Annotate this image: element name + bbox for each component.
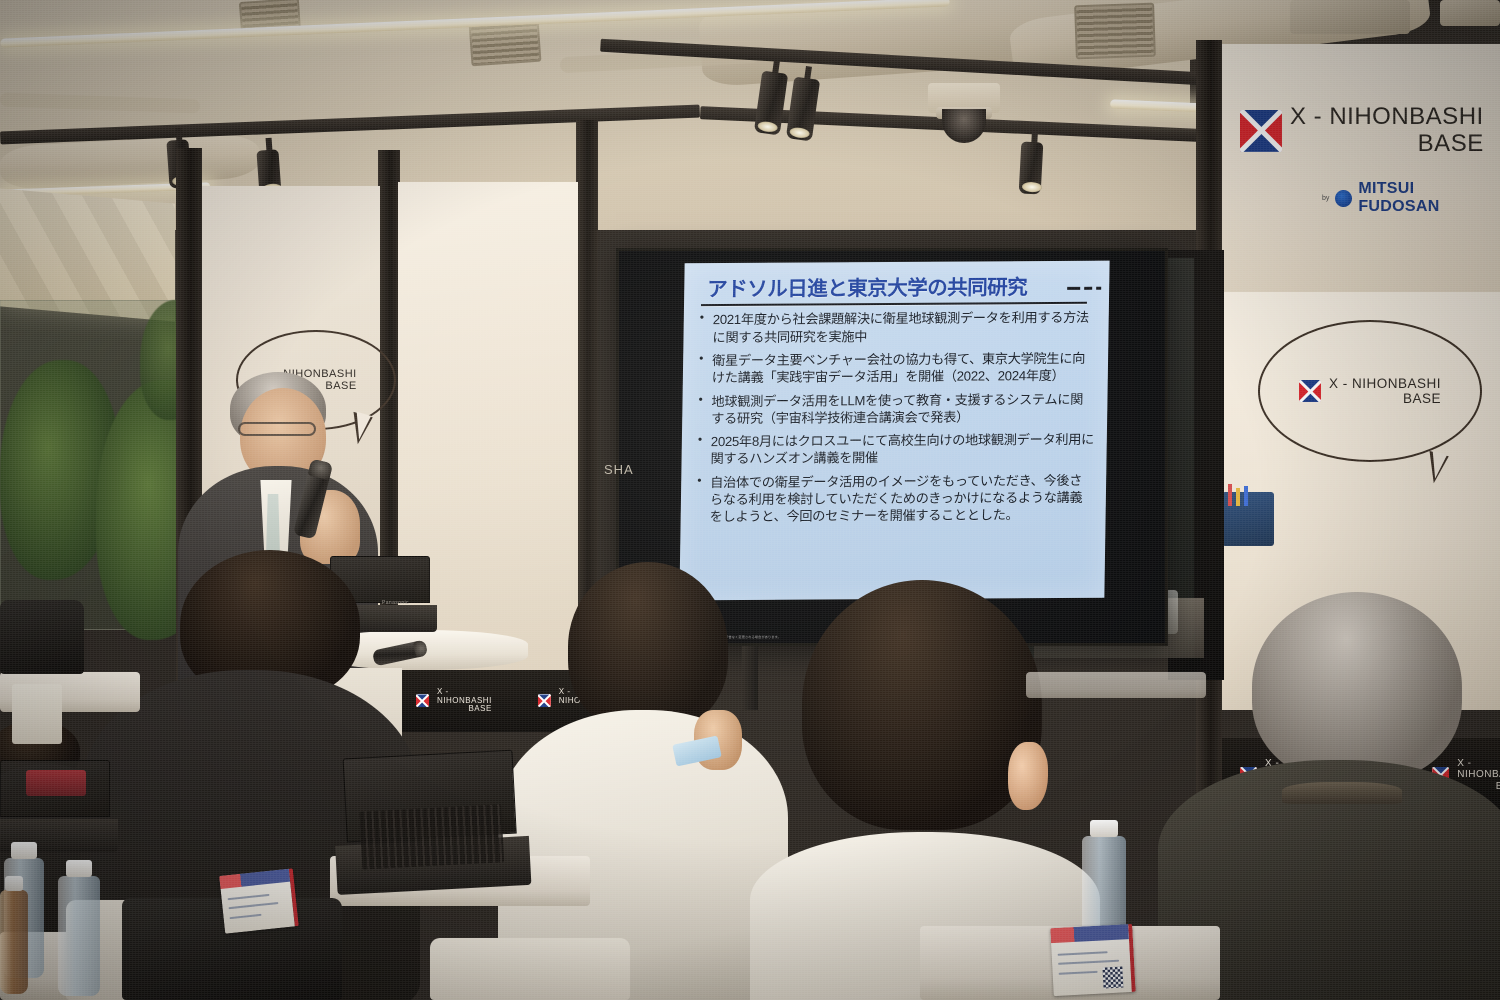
- attendee-ear: [1008, 742, 1048, 810]
- name-badge-right: [1050, 924, 1135, 996]
- ceiling-speaker: [1290, 0, 1410, 34]
- title-dash-decoration: [1067, 287, 1101, 290]
- attendee-hair: [1252, 592, 1462, 782]
- sponsor-lockup: by MITSUI FUDOSAN: [1322, 180, 1500, 216]
- mitsui-fudosan-icon: [1335, 190, 1352, 207]
- x-logo-icon: [1299, 380, 1321, 402]
- speech-bubble-right: X - NIHONBASHI BASE: [1258, 320, 1482, 462]
- pen-blue: [1244, 486, 1248, 506]
- x-nihonbashi-logo-top-right: X - NIHONBASHI BASE: [1240, 104, 1484, 158]
- bag: [0, 600, 84, 674]
- attendee-laptop: [343, 750, 520, 895]
- seminar-room-photo: NIHONBASHI BASE X - NIHONBASHI BASE by M…: [0, 0, 1500, 1000]
- logo-line-1: X - NIHONBASHI: [437, 688, 492, 706]
- air-vent-3: [1074, 3, 1156, 60]
- title-underline: [701, 302, 1087, 307]
- logo-line-2: BASE: [1329, 391, 1441, 406]
- ceiling-speaker-2: [1440, 0, 1500, 26]
- paper-stack: [12, 684, 62, 744]
- slide-bullet-list: 2021年度から社会課題解決に衛星地球観測データを利用する方法に関する共同研究を…: [696, 309, 1097, 526]
- x-nihonbashi-logo-bubble: X - NIHONBASHI BASE: [1299, 376, 1441, 406]
- slide-bullet: 2025年8月にはクロスユーにて高校生向けの地球観測データ利用に関するハンズオン…: [696, 431, 1094, 468]
- pen-red: [1228, 484, 1232, 506]
- logo-line-2: BASE: [1290, 131, 1484, 158]
- attendee-collar: [1282, 782, 1402, 804]
- tea-bottle: [0, 890, 28, 994]
- logo-line-1: X - NIHONBASHI: [1329, 376, 1441, 391]
- attendee-hair: [802, 580, 1042, 830]
- x-logo-icon: [1240, 110, 1282, 152]
- water-bottle-2: [58, 876, 100, 996]
- slide-bullet: 自治体での衛星データ活用のイメージをもっていただき、今後さらなる利用を検討してい…: [696, 471, 1095, 525]
- sponsor-prefix: by: [1322, 195, 1329, 202]
- attendee-right: [1178, 592, 1500, 1000]
- table-rear-right: [1026, 672, 1206, 698]
- x-logo-icon: [416, 694, 429, 707]
- backdrop-panel-top-right: [1222, 44, 1500, 294]
- slide-title: アドソル日進と東京大学の共同研究: [707, 270, 1097, 302]
- pen-yellow: [1236, 488, 1240, 506]
- eyeglasses-icon: [238, 422, 316, 436]
- slide: アドソル日進と東京大学の共同研究 2021年度から社会課題解決に衛星地球観測デー…: [679, 261, 1109, 601]
- display-brand-partial: SHA: [604, 462, 634, 477]
- sponsor-name: MITSUI FUDOSAN: [1358, 180, 1500, 216]
- red-case: [26, 770, 86, 796]
- slide-bullet: 衛星データ主要ベンチャー会社の協力も得て、東京大学院生に向けた講義「実践宇宙デー…: [698, 350, 1096, 387]
- slide-bullet: 2021年度から社会課題解決に衛星地球観測データを利用する方法に関する共同研究を…: [698, 309, 1096, 346]
- dome-security-camera-icon: [928, 83, 1000, 113]
- logo-line-1: X - NIHONBASHI: [1290, 104, 1484, 131]
- track-light-icon-5: [1019, 141, 1044, 194]
- slide-bullet: 地球観測データ活用をLLMを使って教育・支援するシステムに関する研究（宇宙科学技…: [697, 390, 1095, 427]
- name-badge-left: [219, 868, 299, 933]
- chair-center: [430, 938, 630, 1000]
- logo-line-2: BASE: [437, 705, 492, 714]
- attendee-hair: [568, 562, 728, 732]
